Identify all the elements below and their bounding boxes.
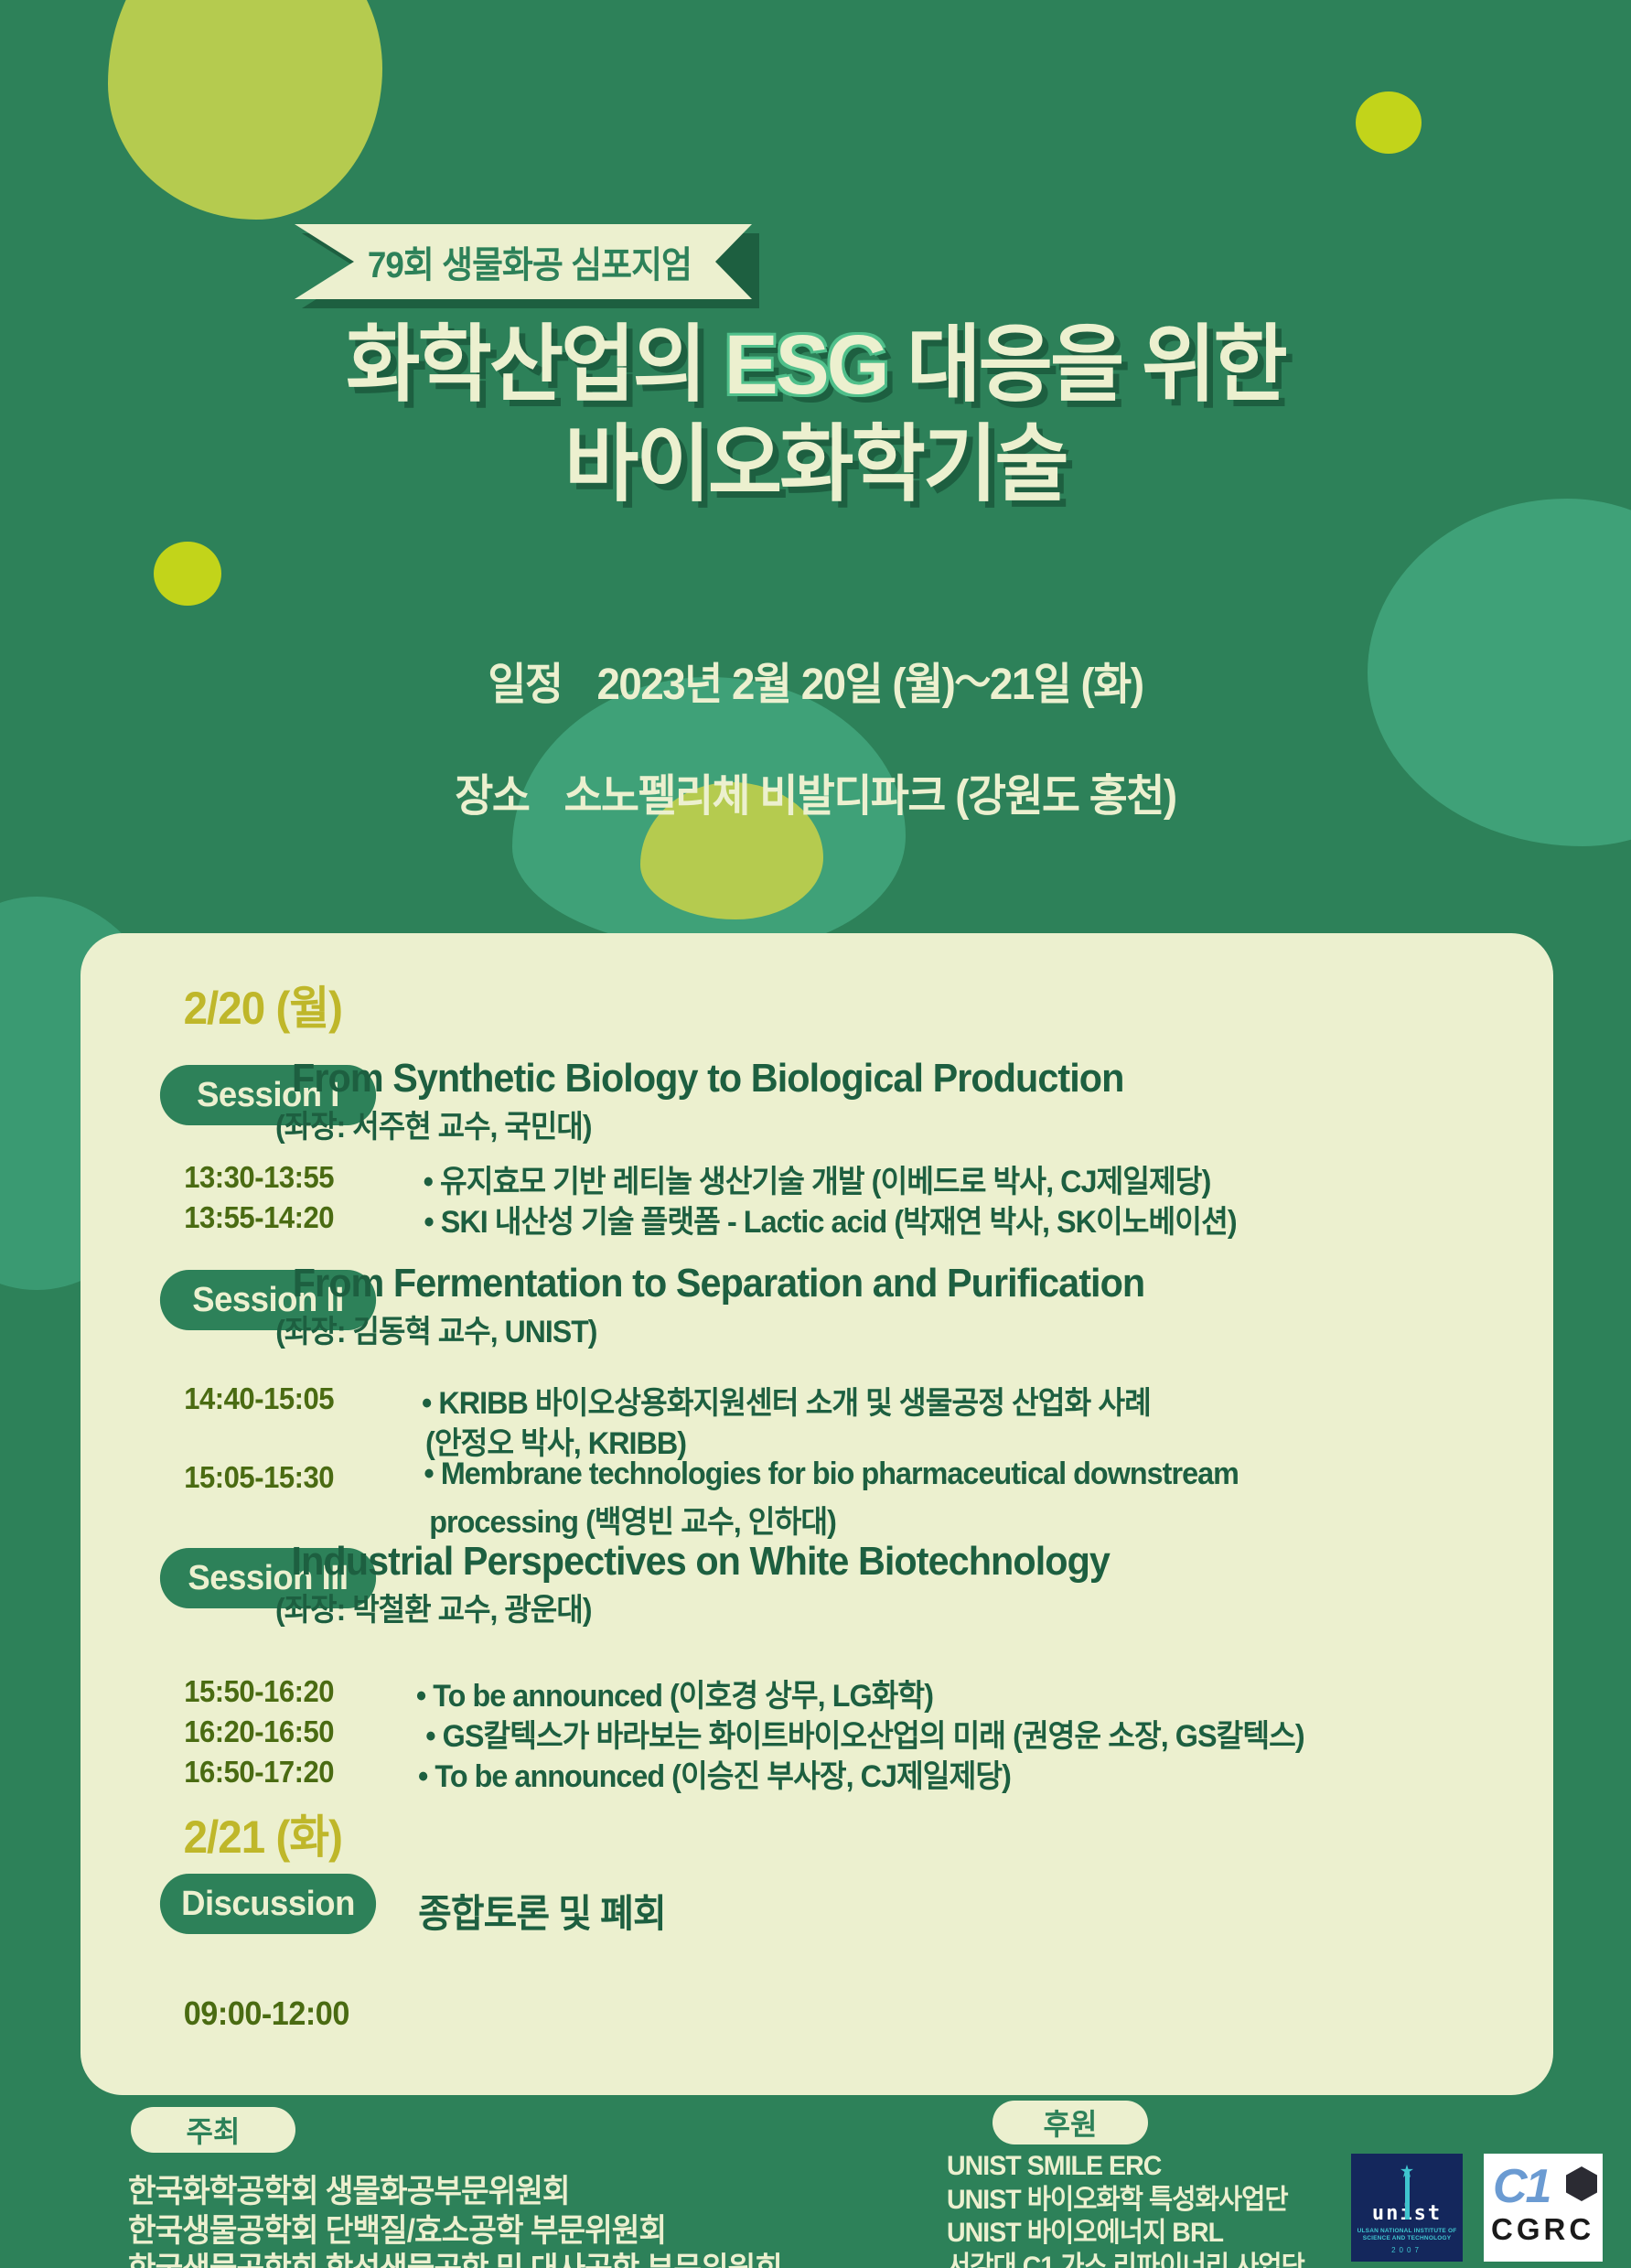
title-line-2: 바이오화학기술 — [33, 415, 1599, 515]
date-label: 일정 — [488, 661, 562, 709]
ribbon-label: 79회 생물화공 심포지엄 — [355, 235, 691, 288]
event-place-row: 장소소노펠리체 비발디파크 (강원도 홍천) — [41, 759, 1591, 823]
discussion-time: 09:00-12:00 — [184, 1994, 349, 2033]
c1-hexagon-icon — [1566, 2166, 1597, 2201]
title-line-1: 화학산업의 ESG 대응을 위한 — [33, 316, 1599, 415]
unist-beam-icon — [1405, 2172, 1410, 2220]
sponsor-list: UNIST SMILE ERC UNIST 바이오화학 특성화사업단 UNIST… — [947, 2150, 1304, 2268]
decorative-dot-lime-top-right — [1356, 91, 1422, 154]
session-3-item-2-text: • To be announced (이승진 부사장, CJ제일제당) — [418, 1751, 1011, 1796]
day-label-0221: 2/21 (화) — [184, 1800, 342, 1866]
discussion-text: 종합토론 및 폐회 — [418, 1883, 666, 1939]
session-2-item-1-text: • Membrane technologies for bio pharmace… — [424, 1456, 1238, 1492]
ribbon-body: 79회 생물화공 심포지엄 — [295, 224, 752, 299]
poster-root: 79회 생물화공 심포지엄 화학산업의 ESG 대응을 위한 바이오화학기술 일… — [0, 0, 1631, 2268]
session-3-item-1-time: 16:20-16:50 — [184, 1714, 334, 1749]
page-title: 화학산업의 ESG 대응을 위한 바이오화학기술 — [0, 316, 1631, 514]
sponsor-item: 서강대 C1 가스 리파이너리 사업단 — [947, 2251, 1304, 2268]
sponsor-item: UNIST SMILE ERC — [947, 2150, 1304, 2184]
session-chair-1: (좌장: 서주현 교수, 국민대) — [275, 1102, 592, 1146]
session-3-item-0-time: 15:50-16:20 — [184, 1674, 334, 1709]
date-start-value: 2023년 2월 20일 (월) — [596, 661, 954, 709]
session-2-item-1-time: 15:05-15:30 — [184, 1460, 334, 1495]
date-end-value: 21일 (화) — [990, 661, 1143, 709]
session-3-item-1-text: • GS칼텍스가 바라보는 화이트바이오산업의 미래 (권영운 소장, GS칼텍… — [425, 1711, 1304, 1756]
cgrc-logo-text: CGRC — [1491, 2214, 1594, 2244]
sponsor-label-pill: 후원 — [993, 2101, 1148, 2144]
c1-cgrc-logo: C1 CGRC — [1484, 2154, 1603, 2262]
session-chair-2: (좌장: 김동혁 교수, UNIST) — [275, 1306, 596, 1351]
session-2-item-0-text: • KRIBB 바이오상용화지원센터 소개 및 생물공정 산업화 사례 — [422, 1378, 1151, 1423]
session-1-item-0-time: 13:30-13:55 — [184, 1160, 334, 1195]
host-item: 한국생물공학회 단백질/효소공학 부문위원회 — [128, 2212, 782, 2252]
session-2-item-0-time: 14:40-15:05 — [184, 1381, 334, 1416]
unist-logo: unist ULSAN NATIONAL INSTITUTE OF SCIENC… — [1351, 2154, 1463, 2262]
place-value: 소노펠리체 비발디파크 (강원도 홍천) — [563, 772, 1175, 821]
place-label: 장소 — [455, 772, 529, 821]
decorative-blob-olive-top — [108, 0, 382, 220]
unist-logo-year: 2007 — [1391, 2246, 1422, 2254]
ribbon-banner: 79회 생물화공 심포지엄 — [295, 224, 752, 299]
date-range-squiggle: 〜 — [954, 651, 989, 707]
session-3-item-0-text: • To be announced (이호경 상무, LG화학) — [416, 1671, 933, 1715]
decorative-dot-lime-left — [154, 542, 221, 606]
session-1-item-1-text: • SKI 내산성 기술 플랫폼 - Lactic acid (박재연 박사, … — [424, 1197, 1236, 1241]
host-label-pill: 주최 — [131, 2107, 295, 2153]
host-item: 한국생물공학회 합성생물공학 및 대사공학 부문위원회 — [128, 2251, 782, 2268]
title-part-b: 대응을 위한 — [887, 318, 1285, 412]
session-title-1: From Synthetic Biology to Biological Pro… — [292, 1056, 1123, 1102]
sponsor-item: UNIST 바이오에너지 BRL — [947, 2217, 1304, 2251]
session-1-item-1-time: 13:55-14:20 — [184, 1200, 334, 1235]
host-list: 한국화학공학회 생물화공부문위원회 한국생물공학회 단백질/효소공학 부문위원회… — [128, 2173, 782, 2268]
event-date-row: 일정2023년 2월 20일 (월)〜21일 (화) — [41, 648, 1591, 712]
title-part-a: 화학산업의 — [346, 318, 724, 412]
session-1-item-0-text: • 유지효모 기반 레티놀 생산기술 개발 (이베드로 박사, CJ제일제당) — [424, 1156, 1211, 1201]
discussion-pill: Discussion — [160, 1874, 376, 1934]
session-3-item-2-time: 16:50-17:20 — [184, 1755, 334, 1790]
session-2-item-1-cont: processing (백영빈 교수, 인하대) — [413, 1497, 836, 1542]
host-item: 한국화학공학회 생물화공부문위원회 — [128, 2173, 782, 2212]
session-chair-3: (좌장: 박철환 교수, 광운대) — [275, 1585, 592, 1629]
c1-logo-mark: C1 — [1493, 2163, 1550, 2210]
unist-logo-subtitle: ULSAN NATIONAL INSTITUTE OF SCIENCE AND … — [1351, 2228, 1463, 2242]
session-title-3: Industrial Perspectives on White Biotech… — [292, 1539, 1110, 1585]
session-title-2: From Fermentation to Separation and Puri… — [293, 1261, 1145, 1306]
sponsor-item: UNIST 바이오화학 특성화사업단 — [947, 2184, 1304, 2218]
day-label-0220: 2/20 (월) — [184, 972, 342, 1037]
title-esg-highlight: ESG — [724, 318, 887, 412]
